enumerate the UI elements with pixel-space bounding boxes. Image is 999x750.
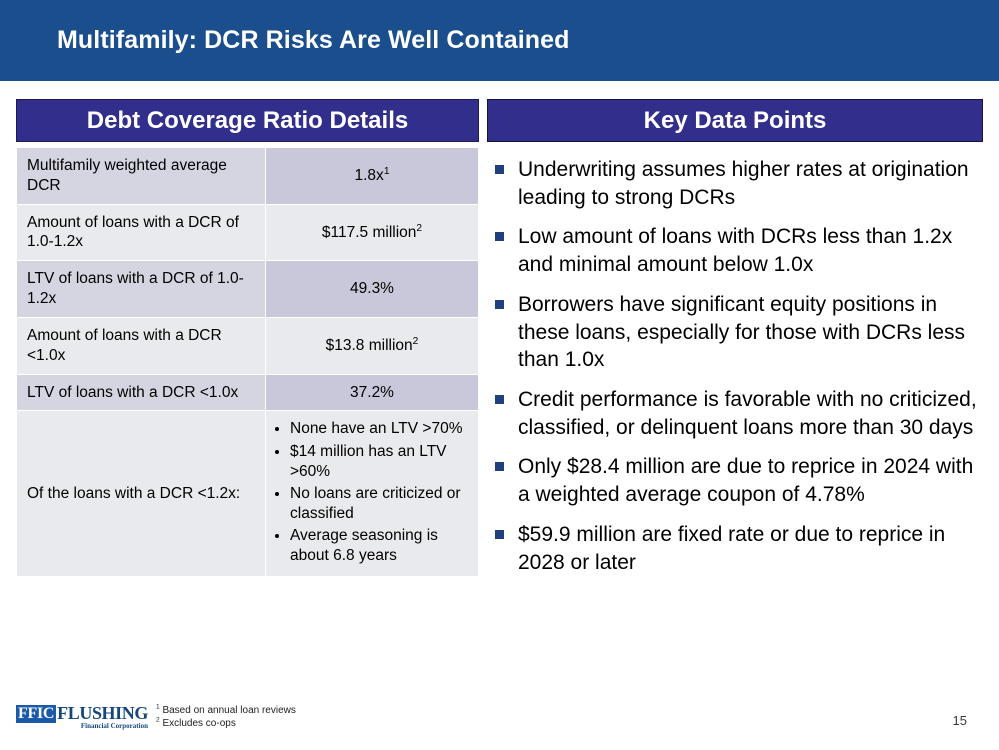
row-label: LTV of loans with a DCR of 1.0-1.2x bbox=[17, 261, 266, 318]
company-logo: FFIC FLUSHING Financial Corporation bbox=[16, 705, 148, 730]
row-value: 1.8x1 bbox=[266, 148, 479, 205]
list-item: $14 million has an LTV >60% bbox=[290, 442, 468, 482]
list-item: Borrowers have significant equity positi… bbox=[487, 291, 983, 374]
list-item: Underwriting assumes higher rates at ori… bbox=[487, 156, 983, 211]
key-data-points-header: Key Data Points bbox=[487, 99, 983, 142]
logo-company-name: FLUSHING bbox=[57, 705, 148, 722]
page-number: 15 bbox=[953, 713, 967, 728]
footnote-marker: 1 bbox=[384, 166, 390, 177]
logo-wordmark: FLUSHING Financial Corporation bbox=[57, 705, 148, 730]
row-label: Amount of loans with a DCR <1.0x bbox=[17, 317, 266, 374]
list-item: Average seasoning is about 6.8 years bbox=[290, 526, 468, 566]
dcr-details-table: Multifamily weighted average DCR1.8x1Amo… bbox=[16, 147, 479, 577]
table-row: LTV of loans with a DCR of 1.0-1.2x49.3% bbox=[17, 261, 479, 318]
footnote-marker: 1 bbox=[156, 704, 160, 711]
page-title: Multifamily: DCR Risks Are Well Containe… bbox=[57, 26, 570, 55]
footnote-line: 1 Based on annual loan reviews bbox=[156, 704, 296, 717]
row-value: 37.2% bbox=[266, 374, 479, 411]
footnote-line: 2 Excludes co-ops bbox=[156, 717, 296, 730]
row-label: Multifamily weighted average DCR bbox=[17, 148, 266, 205]
table-row: Amount of loans with a DCR of 1.0-1.2x$1… bbox=[17, 204, 479, 261]
footnote-marker: 2 bbox=[416, 222, 422, 233]
dcr-details-header: Debt Coverage Ratio Details bbox=[16, 99, 479, 142]
logo-company-subtitle: Financial Corporation bbox=[57, 722, 148, 730]
table-row: Multifamily weighted average DCR1.8x1 bbox=[17, 148, 479, 205]
slide-title-bar: Multifamily: DCR Risks Are Well Containe… bbox=[0, 0, 999, 81]
list-item: None have an LTV >70% bbox=[290, 419, 468, 439]
row-value-bullet-list: None have an LTV >70%$14 million has an … bbox=[266, 411, 479, 577]
square-bullet-icon bbox=[495, 165, 504, 174]
list-item: Low amount of loans with DCRs less than … bbox=[487, 223, 983, 278]
list-item: Only $28.4 million are due to reprice in… bbox=[487, 453, 983, 508]
square-bullet-icon bbox=[495, 395, 504, 404]
row-value: $13.8 million2 bbox=[266, 317, 479, 374]
square-bullet-icon bbox=[495, 300, 504, 309]
row-label: LTV of loans with a DCR <1.0x bbox=[17, 374, 266, 411]
footnotes: 1 Based on annual loan reviews2 Excludes… bbox=[156, 704, 296, 730]
footnote-marker: 2 bbox=[156, 717, 160, 724]
list-item: No loans are criticized or classified bbox=[290, 484, 468, 524]
key-data-points-header-label: Key Data Points bbox=[644, 107, 827, 135]
table-row: LTV of loans with a DCR <1.0x37.2% bbox=[17, 374, 479, 411]
logo-ticker-mark: FFIC bbox=[16, 705, 56, 723]
dcr-details-header-label: Debt Coverage Ratio Details bbox=[87, 107, 408, 135]
list-item: $59.9 million are fixed rate or due to r… bbox=[487, 521, 983, 576]
table-row: Amount of loans with a DCR <1.0x$13.8 mi… bbox=[17, 317, 479, 374]
square-bullet-icon bbox=[495, 530, 504, 539]
dcr-sub-bullet-list: None have an LTV >70%$14 million has an … bbox=[276, 419, 468, 566]
footnote-marker: 2 bbox=[413, 336, 419, 347]
key-data-points-list: Underwriting assumes higher rates at ori… bbox=[487, 142, 983, 576]
square-bullet-icon bbox=[495, 232, 504, 241]
dcr-details-panel: Debt Coverage Ratio Details Multifamily … bbox=[16, 99, 479, 577]
key-data-points-panel: Key Data Points Underwriting assumes hig… bbox=[487, 99, 983, 588]
row-label: Of the loans with a DCR <1.2x: bbox=[17, 411, 266, 577]
list-item: Credit performance is favorable with no … bbox=[487, 386, 983, 441]
table-row: Of the loans with a DCR <1.2x:None have … bbox=[17, 411, 479, 577]
square-bullet-icon bbox=[495, 462, 504, 471]
row-value: $117.5 million2 bbox=[266, 204, 479, 261]
row-value: 49.3% bbox=[266, 261, 479, 318]
row-label: Amount of loans with a DCR of 1.0-1.2x bbox=[17, 204, 266, 261]
